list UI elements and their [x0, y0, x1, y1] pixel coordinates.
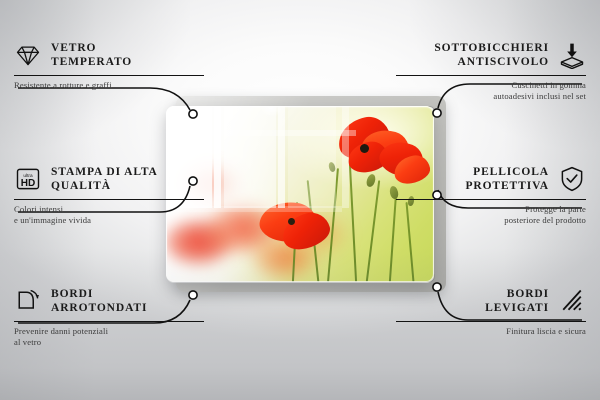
- feature-heading: PELLICOLA PROTETTIVA: [396, 164, 586, 194]
- feature-sottobicchieri-antiscivolo[interactable]: SOTTOBICCHIERI ANTISCIVOLO Cuscinetti in…: [396, 40, 586, 103]
- feature-stampa-di-alta-qualita[interactable]: ultra HD STAMPA DI ALTA QUALITÀ Colori i…: [14, 164, 204, 227]
- feature-heading: BORDI LEVIGATI: [396, 286, 586, 316]
- feature-subtitle: Cuscinetti in gomma autoadesivi inclusi …: [396, 80, 586, 103]
- feature-subtitle: Resistente a rotture e graffi: [14, 80, 204, 91]
- feature-title: BORDI ARROTONDATI: [51, 287, 147, 315]
- feature-subtitle: Finitura liscia e sicura: [396, 326, 586, 337]
- feature-heading: BORDI ARROTONDATI: [14, 286, 204, 316]
- feature-title: SOTTOBICCHIERI ANTISCIVOLO: [434, 41, 549, 69]
- feature-bordi-levigati[interactable]: BORDI LEVIGATI Finitura liscia e sicura: [396, 286, 586, 337]
- feature-divider: [396, 321, 586, 322]
- connector-dot-top-left: [189, 110, 197, 118]
- ultra-hd-icon: ultra HD: [14, 165, 42, 193]
- feature-heading: ultra HD STAMPA DI ALTA QUALITÀ: [14, 164, 204, 194]
- connector-dot-top-right: [433, 109, 441, 117]
- feature-subtitle: Protegge la parte posteriore del prodott…: [396, 204, 586, 227]
- feature-title: VETRO TEMPERATO: [51, 41, 132, 69]
- diamond-icon: [14, 41, 42, 69]
- rounded-corner-icon: [14, 287, 42, 315]
- infographic-canvas: VETRO TEMPERATO Resistente a rotture e g…: [0, 0, 600, 400]
- feature-pellicola-protettiva[interactable]: PELLICOLA PROTETTIVA Protegge la parte p…: [396, 164, 586, 227]
- feature-heading: VETRO TEMPERATO: [14, 40, 204, 70]
- feature-subtitle: Colori intensi e un'immagine vivida: [14, 204, 204, 227]
- feature-subtitle: Prevenire danni potenziali al vetro: [14, 326, 204, 349]
- feature-title: PELLICOLA PROTETTIVA: [465, 165, 549, 193]
- diagonal-lines-icon: [558, 287, 586, 315]
- shield-check-icon: [558, 165, 586, 193]
- feature-divider: [14, 199, 204, 200]
- feature-divider: [396, 199, 586, 200]
- feature-divider: [14, 321, 204, 322]
- feature-title: STAMPA DI ALTA QUALITÀ: [51, 165, 158, 193]
- feature-divider: [396, 75, 586, 76]
- feature-heading: SOTTOBICCHIERI ANTISCIVOLO: [396, 40, 586, 70]
- feature-divider: [14, 75, 204, 76]
- svg-text:HD: HD: [21, 178, 36, 189]
- feature-vetro-temperato[interactable]: VETRO TEMPERATO Resistente a rotture e g…: [14, 40, 204, 91]
- press-pad-icon: [558, 41, 586, 69]
- feature-title: BORDI LEVIGATI: [485, 287, 549, 315]
- feature-bordi-arrotondati[interactable]: BORDI ARROTONDATI Prevenire danni potenz…: [14, 286, 204, 349]
